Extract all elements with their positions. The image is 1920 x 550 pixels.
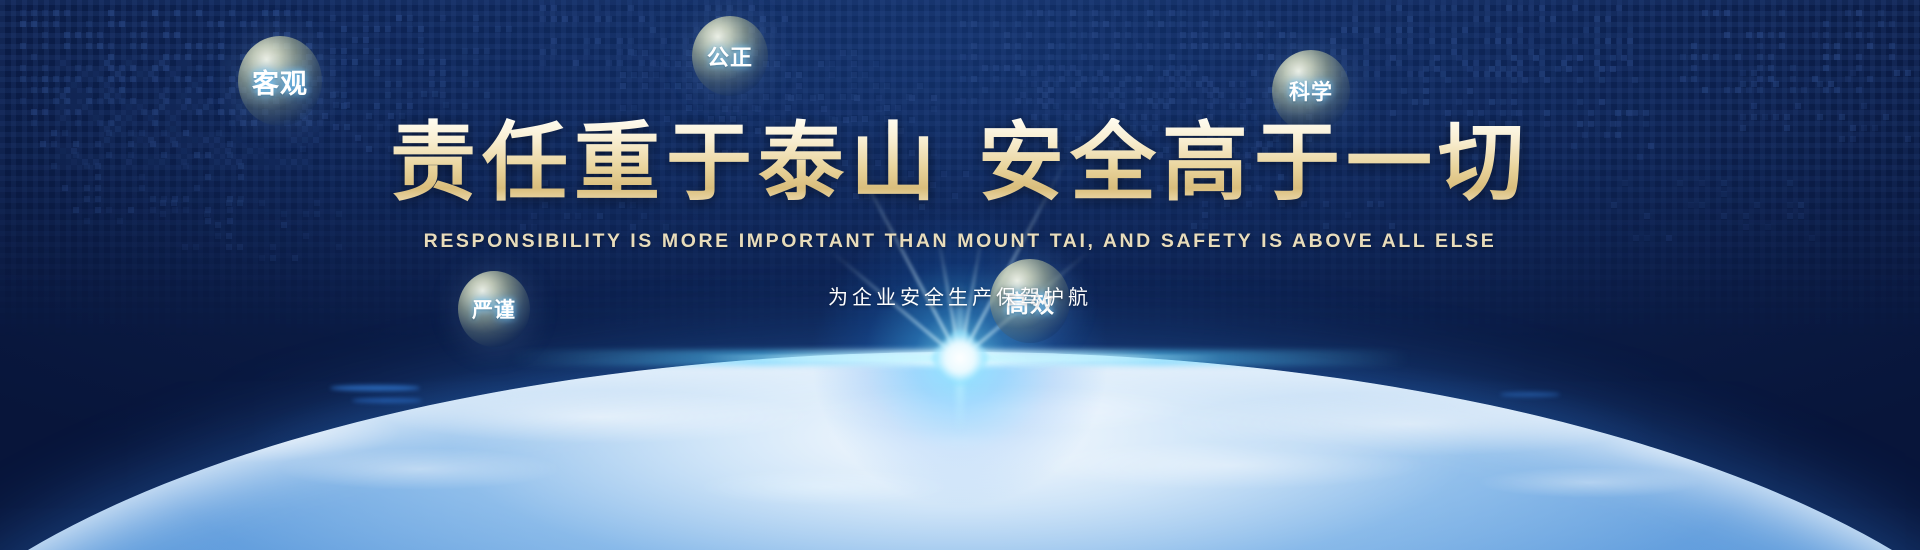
bubble-gongzheng[interactable]: 公正 [692, 16, 768, 96]
page-title: 责任重于泰山 安全高于一切 [0, 118, 1920, 208]
bubble-label-gongzheng: 公正 [707, 40, 753, 72]
bubble-label-keguan: 客观 [252, 62, 308, 101]
bubble-keguan[interactable]: 客观 [238, 36, 322, 126]
subtitle-english: RESPONSIBILITY IS MORE IMPORTANT THAN MO… [0, 230, 1920, 253]
safety-banner: 客观 公正 科学 严谨 高效 责任重于泰山 安全高于一切 RESPONSIBIL… [0, 0, 1920, 550]
earth-globe [0, 352, 1920, 550]
banner-text-block: 责任重于泰山 安全高于一切 RESPONSIBILITY IS MORE IMP… [0, 118, 1920, 310]
bubble-label-kexue: 科学 [1289, 76, 1333, 106]
subtitle-chinese: 为企业安全生产保驾护航 [0, 281, 1920, 310]
